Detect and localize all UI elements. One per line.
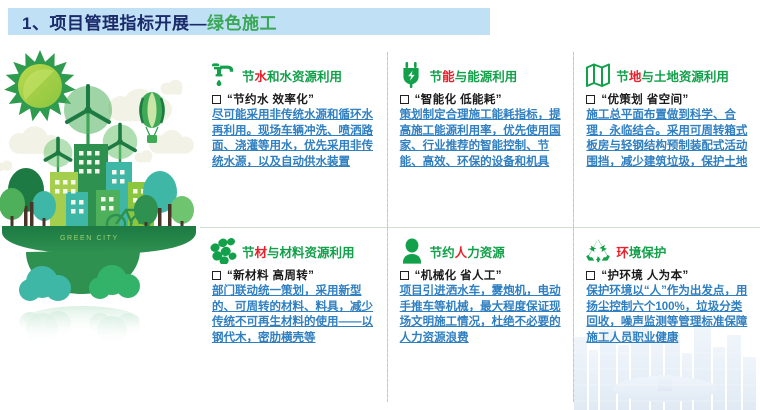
floating-island: GREEN CITY	[2, 226, 196, 301]
card-bullet: “护环境 人为本”	[586, 267, 750, 283]
heading-highlight: 环	[616, 246, 629, 260]
pipes-stack-icon	[210, 236, 238, 266]
card-bullet-text: “新材料 高周转”	[227, 267, 314, 283]
heading-highlight: 地	[629, 70, 642, 84]
heading-post: 境保护	[629, 246, 667, 260]
card-heading: 节能与能源利用	[430, 66, 518, 85]
square-bullet-icon	[586, 271, 595, 280]
card-bullet: “优策划 省空间”	[586, 91, 750, 107]
heading-post: 与土地资源利用	[641, 70, 729, 84]
card-bullet-text: “机械化 省人工”	[415, 267, 502, 283]
column-divider	[573, 52, 574, 227]
square-bullet-icon	[212, 271, 221, 280]
heading-highlight: 水	[255, 70, 268, 84]
card-land-saving[interactable]: 节地与土地资源利用 “优策划 省空间” 施工总平面布置做到科学、合理，永临结合。…	[573, 52, 760, 227]
square-bullet-icon	[586, 95, 595, 104]
card-body-text: 施工总平面布置做到科学、合理，永临结合。采用可周转箱式板房与轻钢结构预制装配式活…	[586, 108, 750, 170]
heading-pre: 节	[242, 246, 255, 260]
column-divider	[387, 52, 388, 227]
page-title-bar: 1、项目管理指标开展—绿色施工	[8, 8, 490, 35]
heading-post: 与材料资源利用	[267, 246, 355, 260]
slide-root: 1、项目管理指标开展—绿色施工	[0, 0, 760, 410]
square-bullet-icon	[400, 95, 409, 104]
card-labour-saving[interactable]: 节约人力资源 “机械化 省人工” 项目引进洒水车，雾炮机，电动手推车等机械，最大…	[387, 227, 574, 402]
square-bullet-icon	[212, 95, 221, 104]
card-material-saving[interactable]: 节材与材料资源利用 “新材料 高周转” 部门联动统一策划，采用新型的、可周转的材…	[200, 227, 387, 402]
title-accent: 绿色施工	[207, 14, 277, 33]
card-header: 节约人力资源	[398, 236, 564, 266]
card-header: 环境保护	[584, 236, 750, 266]
card-header: 节材与材料资源利用	[210, 236, 377, 266]
card-bullet-text: “智能化 低能耗”	[415, 91, 502, 107]
card-heading: 环境保护	[616, 242, 666, 261]
heading-post: 和水资源利用	[267, 70, 342, 84]
card-body-text: 项目引进洒水车，雾炮机，电动手推车等机械，最大程度保证现场文明施工情况，杜绝不必…	[400, 284, 564, 346]
title-main: 项目管理指标开展—	[49, 14, 207, 33]
card-bullet: “机械化 省人工”	[400, 267, 564, 283]
green-city-illustration: GREEN CITY	[0, 44, 205, 410]
card-body-text: 尽可能采用非传统水源和循环水再利用。现场车辆冲洗、喷洒路面、浇灌等用水，优先采用…	[212, 108, 377, 170]
heading-pre: 节约	[430, 246, 455, 260]
heading-post: 与能源利用	[455, 70, 518, 84]
square-bullet-icon	[400, 271, 409, 280]
card-body-text: 策划制定合理施工能耗指标，提高施工能源利用率，优先使用国家、行业推荐的智能控制、…	[400, 108, 564, 170]
card-body-text: 保护环境以“人”作为出发点，用扬尘控制六个100%，垃圾分类回收，噪声监测等管理…	[586, 284, 750, 346]
card-heading: 节约人力资源	[430, 242, 505, 261]
card-bullet: “智能化 低能耗”	[400, 91, 564, 107]
heading-highlight: 材	[255, 246, 268, 260]
card-header: 节能与能源利用	[398, 60, 564, 90]
card-energy-saving[interactable]: 节能与能源利用 “智能化 低能耗” 策划制定合理施工能耗指标，提高施工能源利用率…	[387, 52, 574, 227]
card-bullet-text: “护环境 人为本”	[601, 267, 688, 283]
card-body-text: 部门联动统一策划，采用新型的、可周转的材料、料具，减少传统不可再生材料的使用——…	[212, 284, 377, 346]
card-bullet: “节约水 效率化”	[212, 91, 377, 107]
heading-pre: 节	[430, 70, 443, 84]
card-bullet-text: “节约水 效率化”	[227, 91, 314, 107]
heading-highlight: 人	[455, 246, 468, 260]
faucet-icon	[210, 60, 238, 90]
heading-highlight: 能	[442, 70, 455, 84]
map-icon	[584, 60, 612, 90]
person-icon	[398, 236, 426, 266]
heading-post: 力资源	[467, 246, 505, 260]
card-environment-protection[interactable]: 环境保护 “护环境 人为本” 保护环境以“人”作为出发点，用扬尘控制六个100%…	[573, 227, 760, 402]
power-plug-icon	[398, 60, 426, 90]
card-bullet-text: “优策划 省空间”	[601, 91, 688, 107]
card-bullet: “新材料 高周转”	[212, 267, 377, 283]
column-divider	[573, 228, 574, 402]
island-reflection	[19, 306, 140, 346]
heading-pre: 节	[242, 70, 255, 84]
card-header: 节地与土地资源利用	[584, 60, 750, 90]
card-header: 节水和水资源利用	[210, 60, 377, 90]
heading-pre: 节	[616, 70, 629, 84]
card-heading: 节材与材料资源利用	[242, 242, 355, 261]
column-divider	[387, 228, 388, 402]
page-title: 1、项目管理指标开展—绿色施工	[8, 9, 277, 34]
card-water-saving[interactable]: 节水和水资源利用 “节约水 效率化” 尽可能采用非传统水源和循环水再利用。现场车…	[200, 52, 387, 227]
recycle-icon	[584, 236, 612, 266]
card-heading: 节水和水资源利用	[242, 66, 342, 85]
title-number: 1、	[22, 14, 49, 33]
indicator-card-grid: 节水和水资源利用 “节约水 效率化” 尽可能采用非传统水源和循环水再利用。现场车…	[200, 52, 760, 402]
card-heading: 节地与土地资源利用	[616, 66, 729, 85]
island-caption: GREEN CITY	[60, 235, 119, 242]
